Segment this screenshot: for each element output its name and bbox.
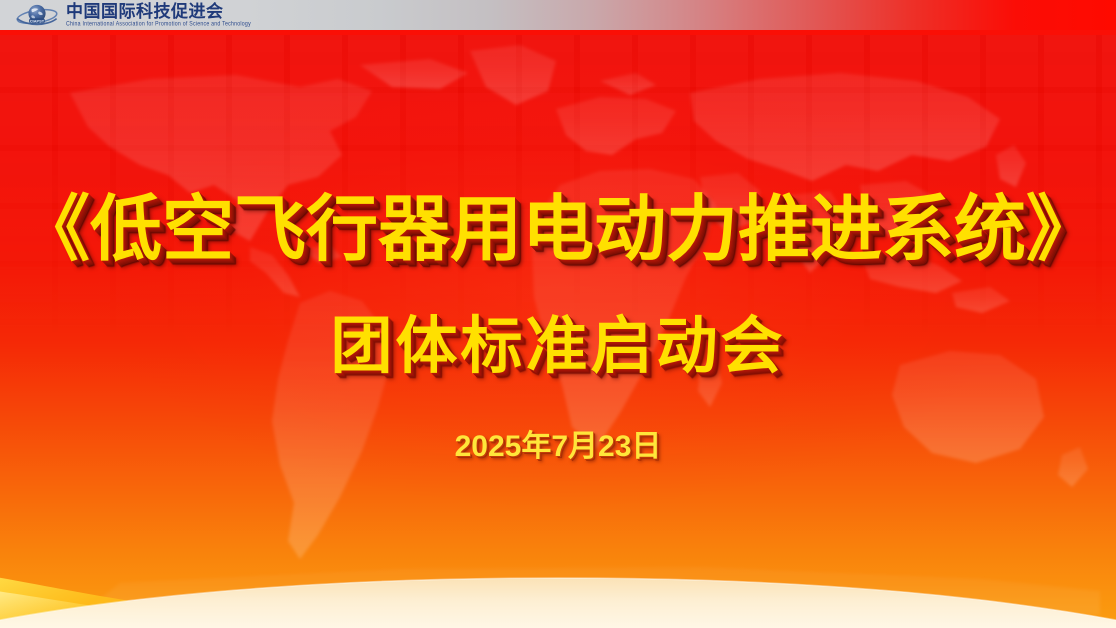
presentation-slide: CIAPST 中国国际科技促进会 China International Ass… bbox=[0, 0, 1116, 628]
header-red-stripe bbox=[0, 30, 1116, 35]
organization-name-cn: 中国国际科技促进会 bbox=[66, 3, 251, 20]
slide-title-main: 《低空飞行器用电动力推进系统》 bbox=[0, 194, 1116, 266]
organization-name-block: 中国国际科技促进会 China International Associatio… bbox=[66, 3, 251, 27]
organization-logo: CIAPST 中国国际科技促进会 China International Ass… bbox=[14, 1, 251, 29]
organization-name-en: China International Association for Prom… bbox=[66, 22, 251, 28]
globe-orbit-logo-icon: CIAPST bbox=[14, 2, 60, 28]
slide-title-subtitle: 团体标准启动会 bbox=[0, 316, 1116, 378]
slide-content: 《低空飞行器用电动力推进系统》 团体标准启动会 2025年7月23日 bbox=[0, 35, 1116, 628]
svg-text:CIAPST: CIAPST bbox=[30, 18, 45, 23]
slide-date: 2025年7月23日 bbox=[0, 432, 1116, 462]
